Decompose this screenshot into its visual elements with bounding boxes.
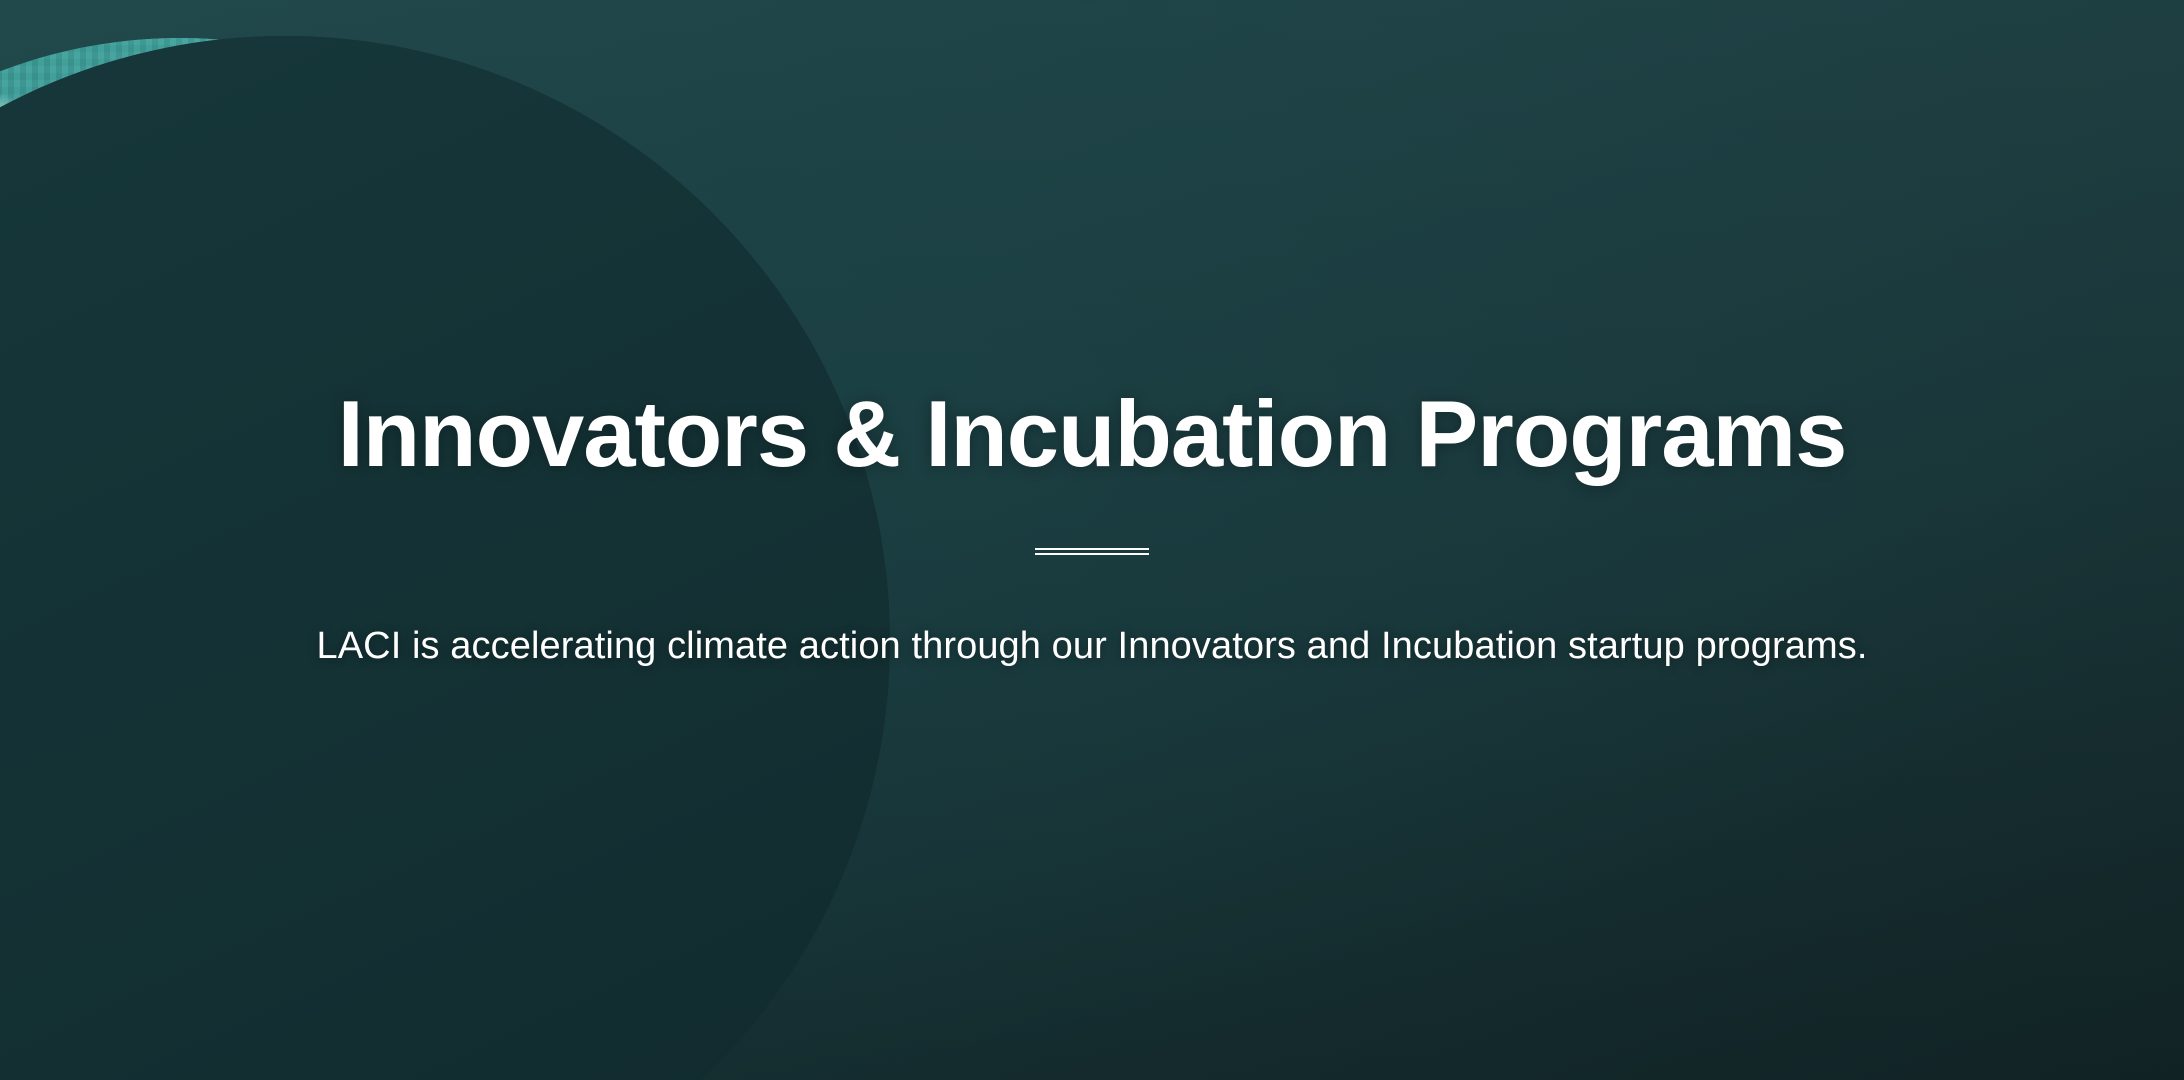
title-divider bbox=[1035, 548, 1149, 555]
divider-rule-bottom bbox=[1035, 553, 1149, 555]
hero-banner: Your Free Local Electric Shuttle. LACI C… bbox=[0, 0, 2184, 1080]
divider-rule-top bbox=[1035, 548, 1149, 550]
hero-content: Innovators & Incubation Programs LACI is… bbox=[0, 0, 2184, 1080]
page-title: Innovators & Incubation Programs bbox=[338, 384, 1847, 484]
page-subtitle: LACI is accelerating climate action thro… bbox=[316, 621, 1867, 672]
